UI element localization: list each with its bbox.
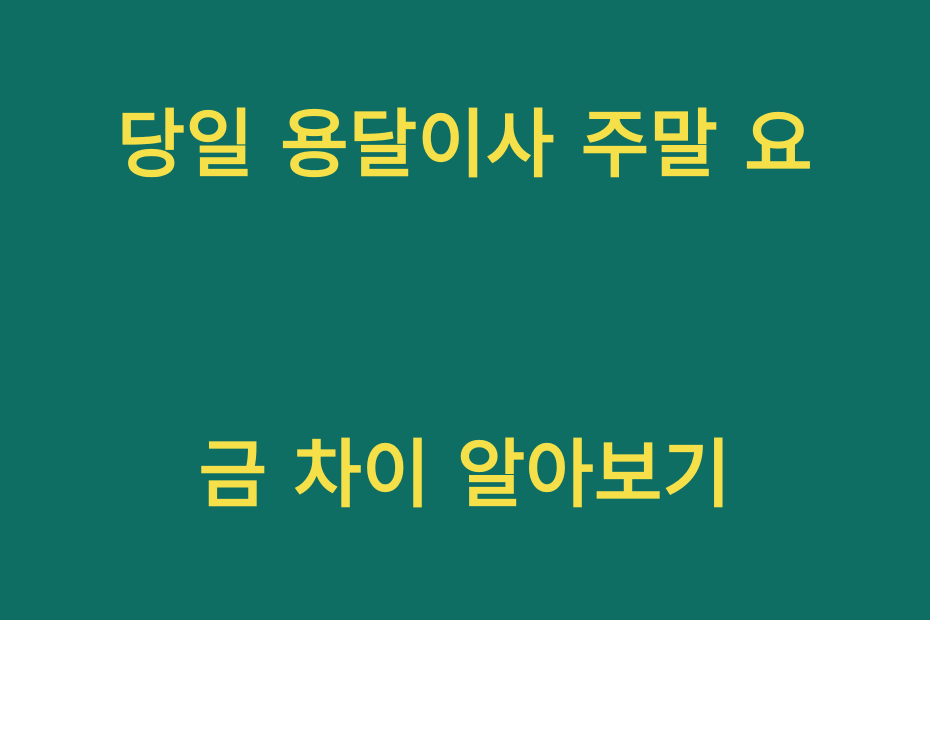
page-title: 당일 용달이사 주말 요 금 차이 알아보기: [85, 0, 845, 750]
headline-container: 당일 용달이사 주말 요 금 차이 알아보기: [85, 0, 845, 750]
text-banner: 당일 용달이사 주말 요 금 차이 알아보기: [0, 0, 930, 620]
headline-line-1: 당일 용달이사 주말 요: [85, 90, 845, 200]
headline-line-2: 금 차이 알아보기: [85, 420, 845, 530]
